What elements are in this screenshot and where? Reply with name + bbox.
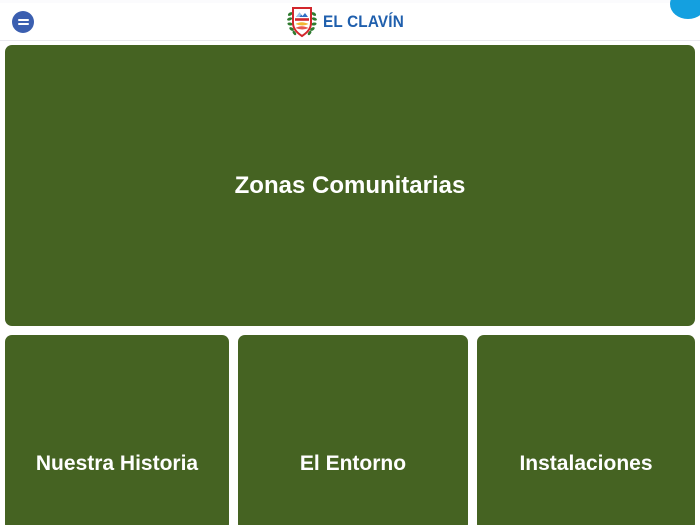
card-title: El Entorno [292,452,414,476]
hamburger-menu-icon[interactable] [12,11,34,33]
brand-name: EL CLAVÍN [323,12,404,32]
card-nuestra-historia[interactable]: Nuestra Historia [5,335,229,525]
card-el-entorno[interactable]: El Entorno [238,335,468,525]
card-row: Nuestra Historia El Entorno Instalacione… [5,335,695,525]
card-title: Zonas Comunitarias [227,172,474,200]
site-header: EL CLAVÍN [0,3,700,41]
card-instalaciones[interactable]: Instalaciones [477,335,695,525]
notification-badge-icon[interactable] [670,0,700,19]
menu-bar-2 [18,23,29,25]
brand-logo[interactable]: EL CLAVÍN [287,5,413,39]
card-title: Nuestra Historia [28,452,206,476]
card-board: Zonas Comunitarias Nuestra Historia El E… [0,41,700,524]
card-zonas-comunitarias[interactable]: Zonas Comunitarias [5,45,695,326]
card-title: Instalaciones [511,452,660,476]
menu-bar-1 [18,19,29,21]
el-clavin-crest-icon [287,5,317,39]
